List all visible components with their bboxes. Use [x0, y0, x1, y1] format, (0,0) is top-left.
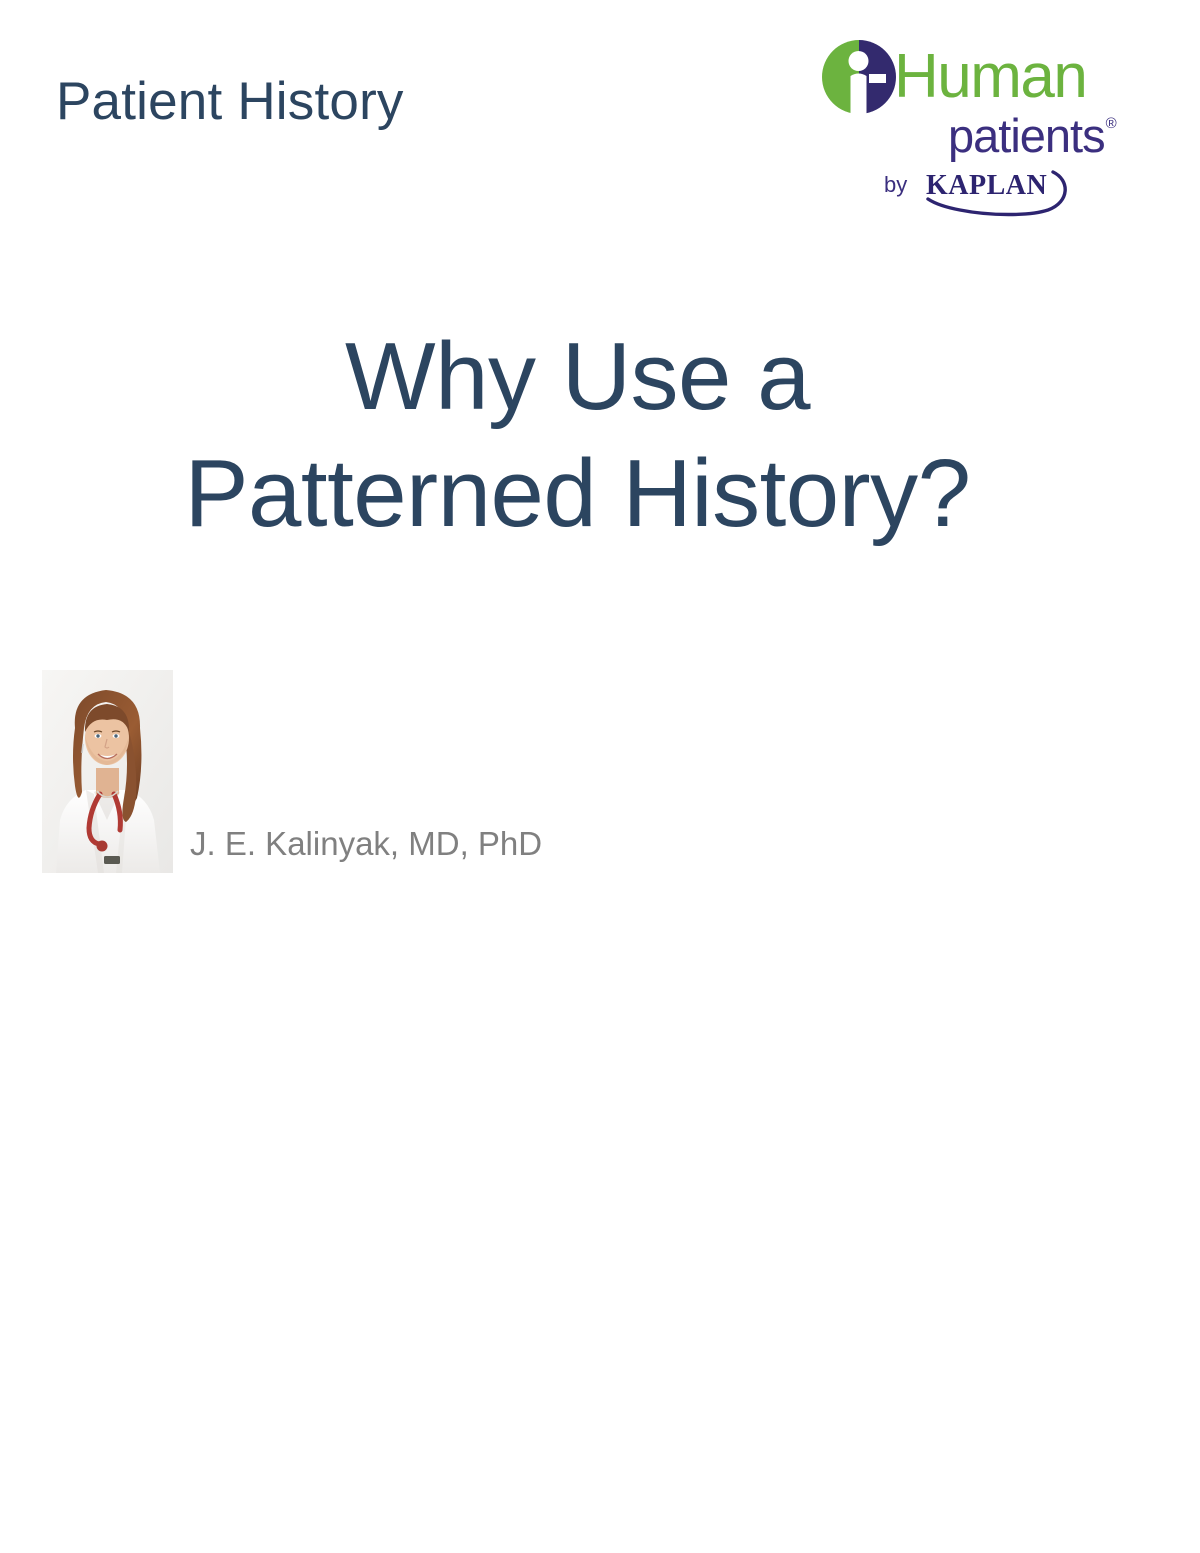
main-title-line-2: Patterned History?	[0, 435, 1155, 552]
kaplan-swoosh-icon	[920, 168, 1080, 218]
i-human-circle-figure-icon	[820, 38, 898, 116]
brand-logo: Human patients ® by KAPLAN	[820, 38, 1160, 218]
main-title: Why Use a Patterned History?	[0, 318, 1155, 552]
author-block: J. E. Kalinyak, MD, PhD	[42, 670, 742, 880]
logo-wordmark-patients: patients	[948, 112, 1105, 159]
page-title: Patient History	[56, 74, 404, 130]
main-title-line-1: Why Use a	[0, 318, 1155, 435]
avatar	[42, 670, 173, 873]
author-name: J. E. Kalinyak, MD, PhD	[190, 827, 542, 860]
slide-canvas: Patient History Human	[0, 0, 1200, 1553]
logo-primary-row: Human	[820, 38, 1086, 116]
logo-kaplan-row: by KAPLAN	[884, 168, 1084, 218]
logo-secondary-row: patients ®	[948, 112, 1117, 159]
logo-by-label: by	[884, 174, 907, 196]
registered-trademark-icon: ®	[1106, 116, 1117, 131]
logo-wordmark-human: Human	[894, 46, 1086, 108]
